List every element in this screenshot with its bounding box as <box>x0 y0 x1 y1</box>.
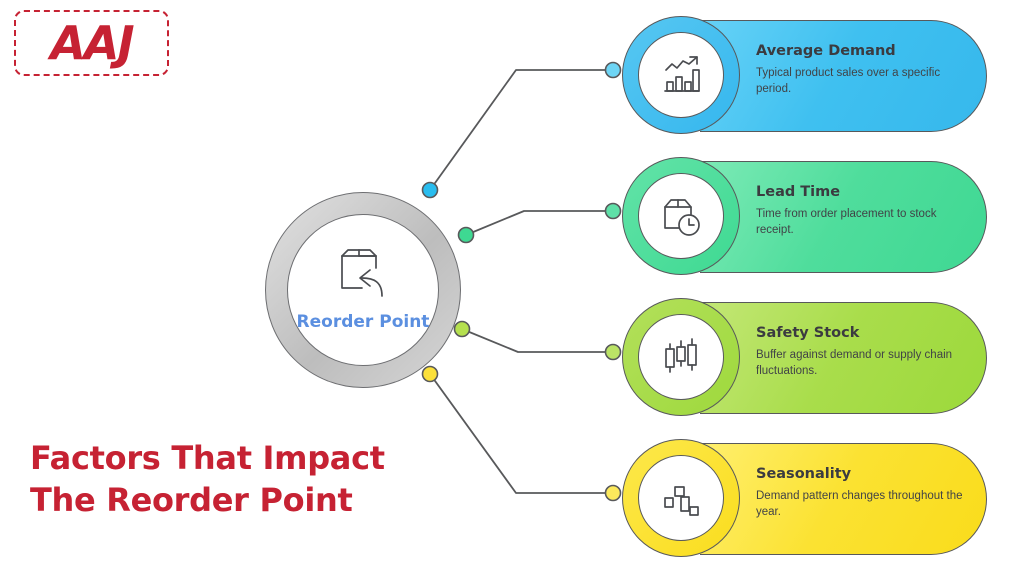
factor-badge-safety-stock[interactable] <box>622 298 740 416</box>
card-title: Lead Time <box>756 184 966 200</box>
card-title: Average Demand <box>756 43 966 59</box>
card-dot-4 <box>606 486 621 501</box>
hub-label: Reorder Point <box>297 312 430 332</box>
bar-chart-trend-up-icon <box>657 51 705 99</box>
brand-logo: AAJ <box>14 10 169 76</box>
badge-disc <box>638 455 724 541</box>
card-title: Safety Stock <box>756 325 966 341</box>
connector-path-2 <box>466 211 613 235</box>
card-description: Typical product sales over a specific pe… <box>756 65 966 98</box>
factor-badge-average-demand[interactable] <box>622 16 740 134</box>
reorder-point-hub[interactable]: Reorder Point <box>265 192 461 388</box>
connector-path-3 <box>462 329 613 352</box>
card-dot-2 <box>606 204 621 219</box>
headline-line-1: Factors That Impact <box>30 437 460 479</box>
candlestick-chart-icon <box>657 333 705 381</box>
page-title: Factors That Impact The Reorder Point <box>30 437 460 521</box>
connector-path-1 <box>430 70 613 190</box>
badge-disc <box>638 173 724 259</box>
hub-inner-disc: Reorder Point <box>287 214 439 366</box>
card-title: Seasonality <box>756 466 966 482</box>
card-dot-3 <box>606 345 621 360</box>
card-description: Buffer against demand or supply chain fl… <box>756 347 966 380</box>
factor-card-average-demand[interactable]: Average Demand Typical product sales ove… <box>700 20 987 132</box>
box-return-arrow-icon <box>332 248 394 300</box>
factor-card-seasonality[interactable]: Seasonality Demand pattern changes throu… <box>700 443 987 555</box>
logo-text: AAJ <box>14 10 169 76</box>
card-description: Demand pattern changes throughout the ye… <box>756 488 966 521</box>
factor-row-seasonality[interactable]: Seasonality Demand pattern changes throu… <box>622 439 987 557</box>
badge-disc <box>638 32 724 118</box>
factor-row-safety-stock[interactable]: Safety Stock Buffer against demand or su… <box>622 298 987 416</box>
badge-disc <box>638 314 724 400</box>
package-clock-icon <box>657 192 705 240</box>
card-description: Time from order placement to stock recei… <box>756 206 966 239</box>
factor-row-lead-time[interactable]: Lead Time Time from order placement to s… <box>622 157 987 275</box>
factor-card-lead-time[interactable]: Lead Time Time from order placement to s… <box>700 161 987 273</box>
factor-card-safety-stock[interactable]: Safety Stock Buffer against demand or su… <box>700 302 987 414</box>
factor-badge-seasonality[interactable] <box>622 439 740 557</box>
factor-badge-lead-time[interactable] <box>622 157 740 275</box>
scatter-blocks-icon <box>657 474 705 522</box>
headline-line-2: The Reorder Point <box>30 479 460 521</box>
factor-row-average-demand[interactable]: Average Demand Typical product sales ove… <box>622 16 987 134</box>
card-dot-1 <box>606 63 621 78</box>
